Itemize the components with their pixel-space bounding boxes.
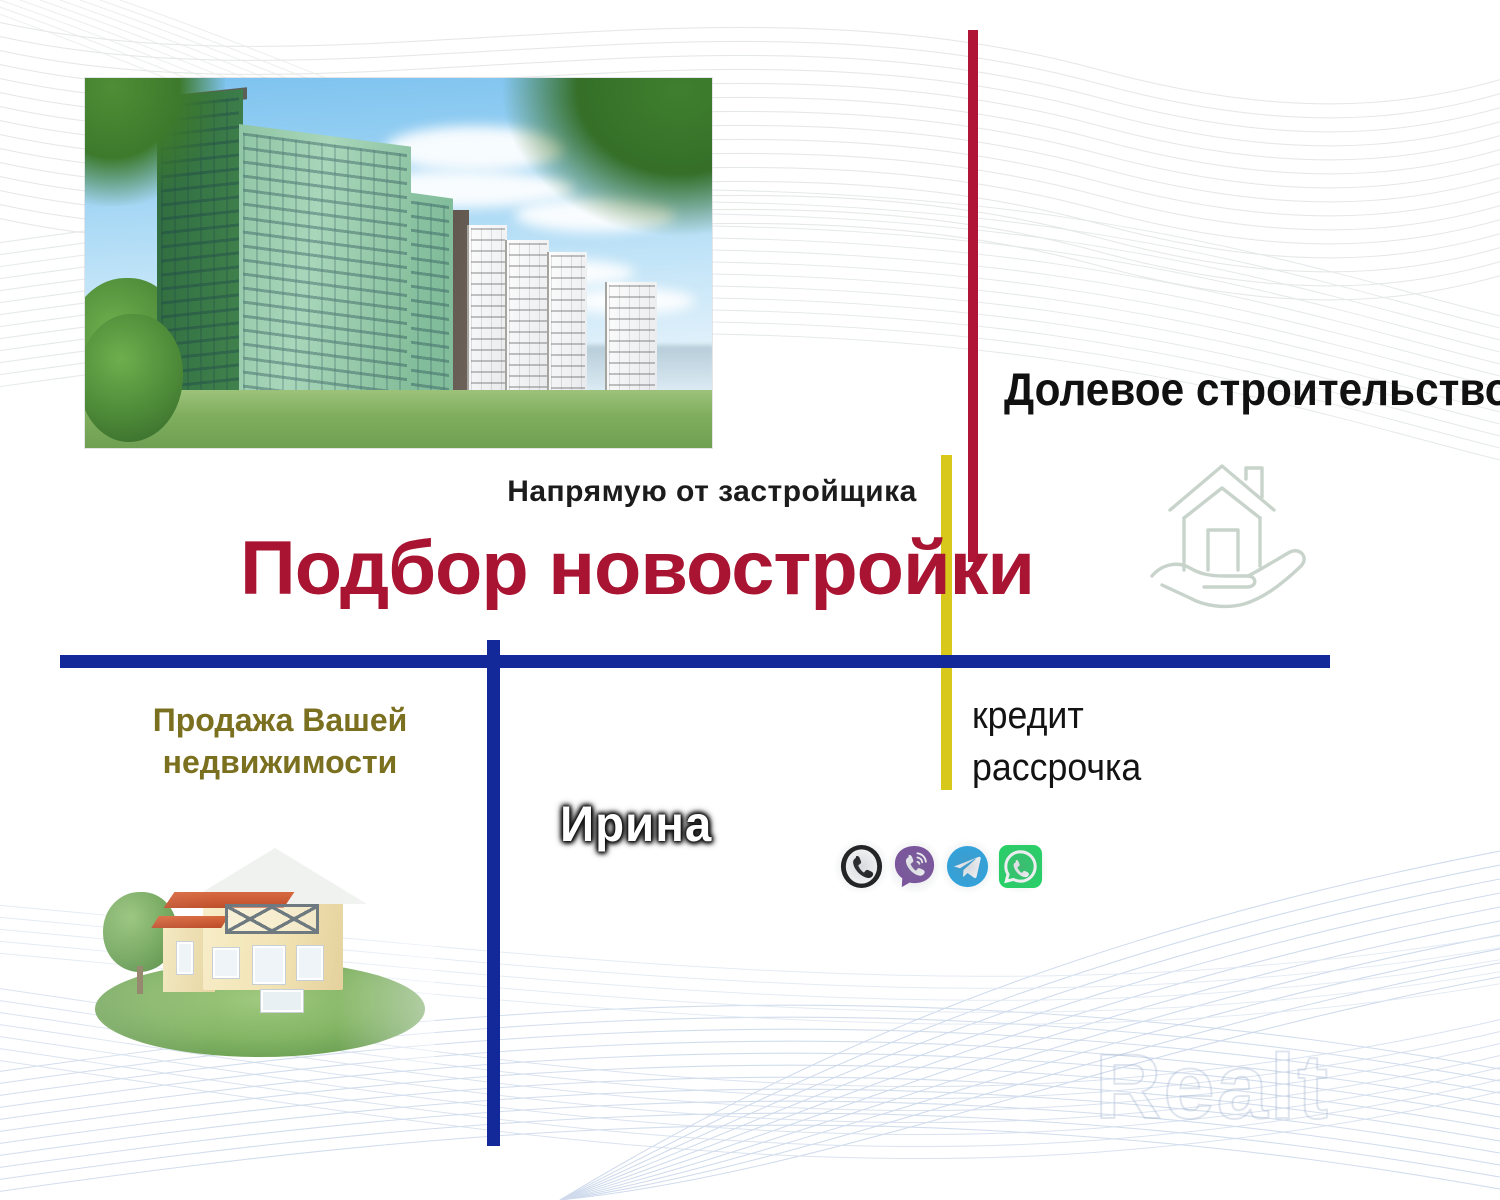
sell-property-line-1: Продажа Вашей [120,700,440,742]
house-in-hand-icon [1148,448,1318,613]
red-vertical-rule [968,30,978,562]
sell-property-label: Продажа Вашей недвижимости [120,700,440,783]
apartment-tower [605,282,657,400]
apartment-tower [505,240,549,400]
foliage-top-right [500,78,712,238]
yellow-vertical-rule [941,455,952,790]
watermark-text: Realt [1095,1035,1330,1140]
icon-glow [939,838,996,895]
icon-glow [833,838,890,895]
image-fade-mask [85,830,435,1065]
telegram-icon[interactable] [944,843,991,890]
cottage-image [85,830,435,1065]
eyebrow-text: Напрямую от застройщика [487,475,937,509]
apartment-tower [467,225,507,400]
icon-glow [992,838,1049,895]
sell-property-line-2: недвижимости [120,742,440,784]
financing-option-credit: кредит [972,690,1141,742]
foliage-top-left [85,78,225,206]
icon-glow [886,838,943,895]
shared-construction-label: Долевое строительство [1004,362,1500,416]
agent-name: Ирина [560,795,712,853]
phone-icon[interactable] [838,843,885,890]
page-title: Подбор новостройки [240,525,1034,612]
whatsapp-icon[interactable] [997,843,1044,890]
apartment-tower [547,252,587,400]
watermark: Realt [1095,1035,1435,1145]
financing-options: кредит рассрочка [972,690,1141,795]
contact-icons[interactable] [838,843,1044,890]
hero-image-new-building [85,78,712,448]
blue-horizontal-rule [60,655,1330,668]
viber-icon[interactable] [891,843,938,890]
blue-vertical-rule [487,640,500,1146]
financing-option-installment: рассрочка [972,742,1141,794]
advertisement-banner: Realt [0,0,1500,1200]
